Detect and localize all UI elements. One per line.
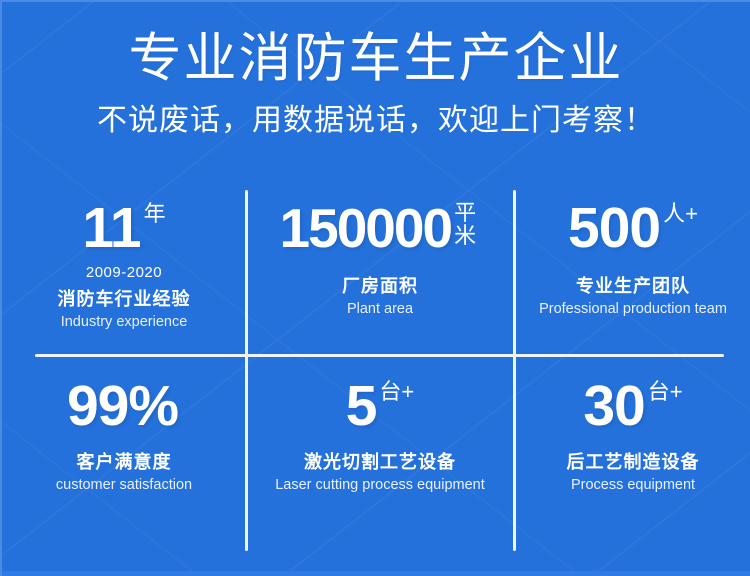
stats-grid: 11 年 2009-2020 消防车行业经验 Industry experien… <box>2 185 750 553</box>
stat-cell-process-equipment: 30 台+ 后工艺制造设备 Process equipment <box>514 355 750 553</box>
page-title: 专业消防车生产企业 <box>2 28 750 90</box>
stat-range: 2009-2020 <box>86 264 162 282</box>
stat-value-row: 5 台+ <box>346 377 415 435</box>
stat-cell-industry-experience: 11 年 2009-2020 消防车行业经验 Industry experien… <box>2 185 246 355</box>
stat-value-row: 11 年 <box>82 199 165 257</box>
stat-unit: 台+ <box>379 380 414 403</box>
stat-label-cn: 后工艺制造设备 <box>567 451 700 474</box>
stat-label-cn: 客户满意度 <box>77 451 172 474</box>
stat-label-cn: 厂房面积 <box>342 275 418 298</box>
stat-number: 11 <box>82 199 140 257</box>
stat-number: 30 <box>583 377 644 435</box>
stat-label-en: Process equipment <box>571 476 695 495</box>
banner-header: 专业消防车生产企业 不说废话，用数据说话，欢迎上门考察！ <box>2 28 750 140</box>
stat-value-row: 150000 平米 <box>280 199 481 257</box>
stat-label-en: Plant area <box>347 300 413 319</box>
stat-label-en: Industry experience <box>61 313 188 332</box>
stat-unit: 年 <box>144 202 166 225</box>
stat-number: 150000 <box>280 199 452 257</box>
stat-value-row: 99% <box>67 377 181 435</box>
stat-unit: 人+ <box>663 202 698 225</box>
stat-cell-plant-area: 150000 平米 厂房面积 Plant area <box>246 185 514 355</box>
stat-label-en: Professional production team <box>539 300 727 319</box>
stat-label-cn: 专业生产团队 <box>576 275 690 298</box>
stat-number: 99% <box>67 377 178 435</box>
stat-label-cn: 消防车行业经验 <box>58 288 191 311</box>
stat-unit: 平米 <box>454 201 480 247</box>
stat-label-en: customer satisfaction <box>56 476 192 495</box>
page-subtitle: 不说废话，用数据说话，欢迎上门考察！ <box>2 102 750 140</box>
stat-number: 5 <box>346 377 377 435</box>
stat-value-row: 500 人+ <box>568 199 698 257</box>
stat-unit: 台+ <box>648 380 683 403</box>
promo-banner: 专业消防车生产企业 不说废话，用数据说话，欢迎上门考察！ 11 年 2009-2… <box>0 0 750 576</box>
stat-cell-customer-satisfaction: 99% 客户满意度 customer satisfaction <box>2 355 246 553</box>
stat-label-en: Laser cutting process equipment <box>275 476 485 495</box>
stat-cell-laser-cutting-equipment: 5 台+ 激光切割工艺设备 Laser cutting process equi… <box>246 355 514 553</box>
stat-number: 500 <box>568 199 660 257</box>
bottom-edge-strip <box>2 571 750 576</box>
stat-value-row: 30 台+ <box>583 377 682 435</box>
stat-label-cn: 激光切割工艺设备 <box>304 451 456 474</box>
stat-cell-production-team: 500 人+ 专业生产团队 Professional production te… <box>514 185 750 355</box>
